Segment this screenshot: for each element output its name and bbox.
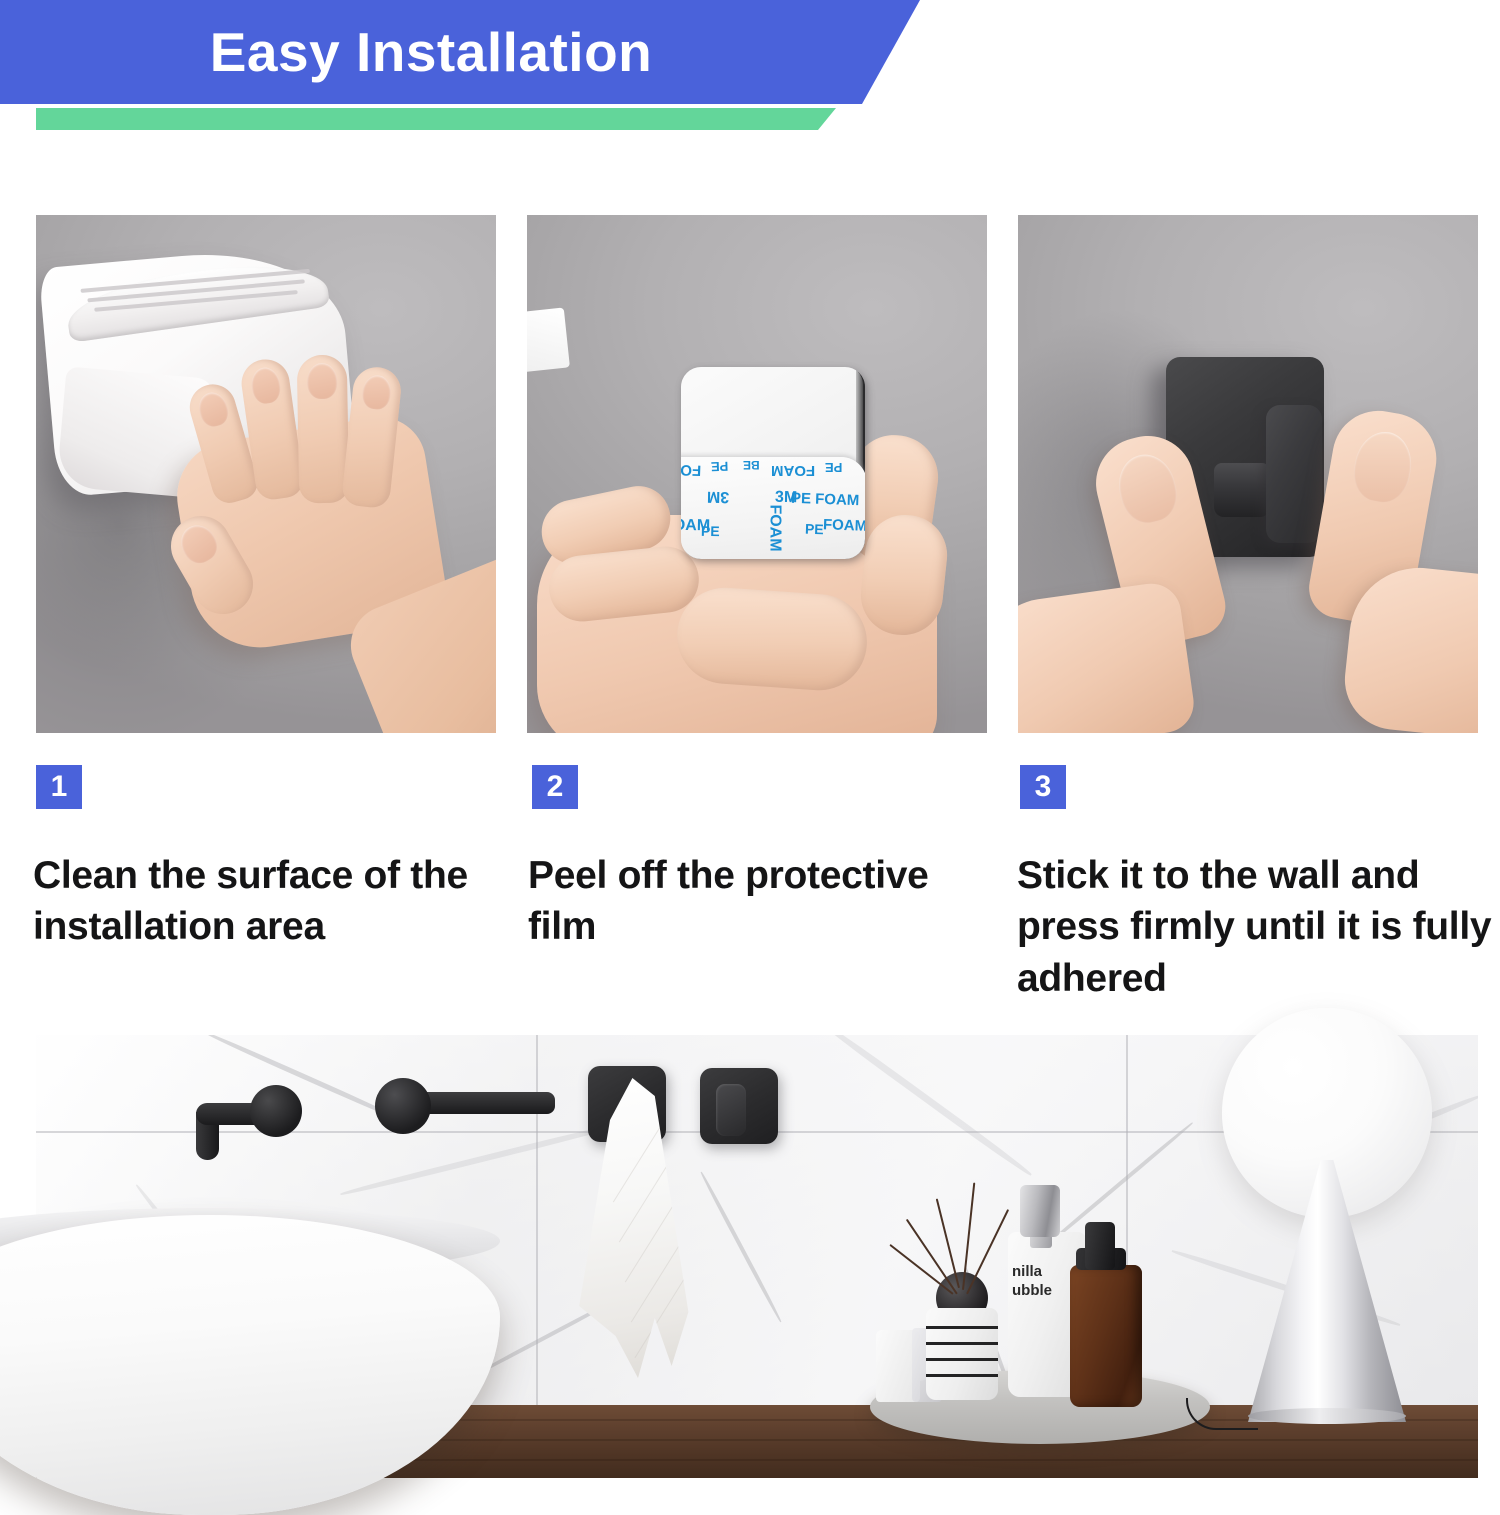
silver-pump-head: [1020, 1185, 1060, 1237]
photo-clean-surface: [36, 215, 496, 733]
thumbnail: [1349, 427, 1416, 506]
faucet-escutcheon: [250, 1085, 302, 1137]
faucet-handle-base: [375, 1078, 431, 1134]
liner-peel-tab: [527, 308, 570, 375]
finger: [297, 355, 350, 504]
fingernail: [195, 389, 231, 429]
striped-vase: [926, 1308, 998, 1400]
palm: [1018, 580, 1197, 733]
liner-print-mark: FOAM: [771, 462, 815, 479]
liner-print-mark: FOAM: [766, 504, 784, 551]
fingernail: [361, 374, 392, 411]
adhesive-liner: FOAMPEBEFOAMPE3M3MPE FOAMFOAMPEFOAMPEFOA…: [681, 457, 865, 559]
liner-print-mark: PE: [825, 460, 842, 475]
amber-pump-head: [1085, 1222, 1115, 1270]
left-hand-pressing: [1018, 425, 1248, 733]
adhesive-pad: FOAMPEBEFOAMPE3M3MPE FOAMFOAMPEFOAMPEFOA…: [681, 367, 865, 559]
fingernail: [250, 366, 283, 406]
banner-green-accent: [36, 108, 836, 130]
thumbnail: [174, 519, 222, 569]
liner-print-mark: PE FOAM: [791, 490, 860, 509]
step-caption-1: Clean the surface of the installation ar…: [33, 850, 503, 953]
page-title: Easy Installation: [0, 0, 862, 104]
liner-print-mark: FOAM: [681, 460, 701, 479]
step-badge-2: 2: [532, 765, 578, 809]
photo-peel-film: FOAMPEBEFOAMPE3M3MPE FOAMFOAMPEFOAMPEFOA…: [527, 215, 987, 733]
thumbnail: [1112, 449, 1183, 529]
lamp-foot: [1248, 1408, 1406, 1424]
thumb: [674, 584, 870, 693]
liner-print-mark: PE: [711, 459, 729, 475]
photo-stick-to-wall: [1018, 215, 1478, 733]
liner-print-mark: 3M: [707, 487, 730, 505]
liner-print-mark: BE: [743, 458, 760, 472]
hook-empty-arm: [716, 1084, 746, 1136]
hand-wiping: [156, 333, 486, 733]
header-banner: Easy Installation: [0, 0, 1500, 140]
right-hand-pressing: [1308, 395, 1478, 733]
liner-print-mark: PE: [805, 521, 824, 538]
fingernail: [307, 363, 338, 400]
step-caption-2: Peel off the protective film: [528, 850, 998, 953]
step-badge-3: 3: [1020, 765, 1066, 809]
liner-print-mark: PE: [701, 523, 720, 539]
step-caption-3: Stick it to the wall and press firmly un…: [1017, 850, 1495, 1004]
amber-pump-bottle: [1070, 1265, 1142, 1407]
liner-print-mark: FOAM: [823, 516, 865, 535]
step-badge-1: 1: [36, 765, 82, 809]
